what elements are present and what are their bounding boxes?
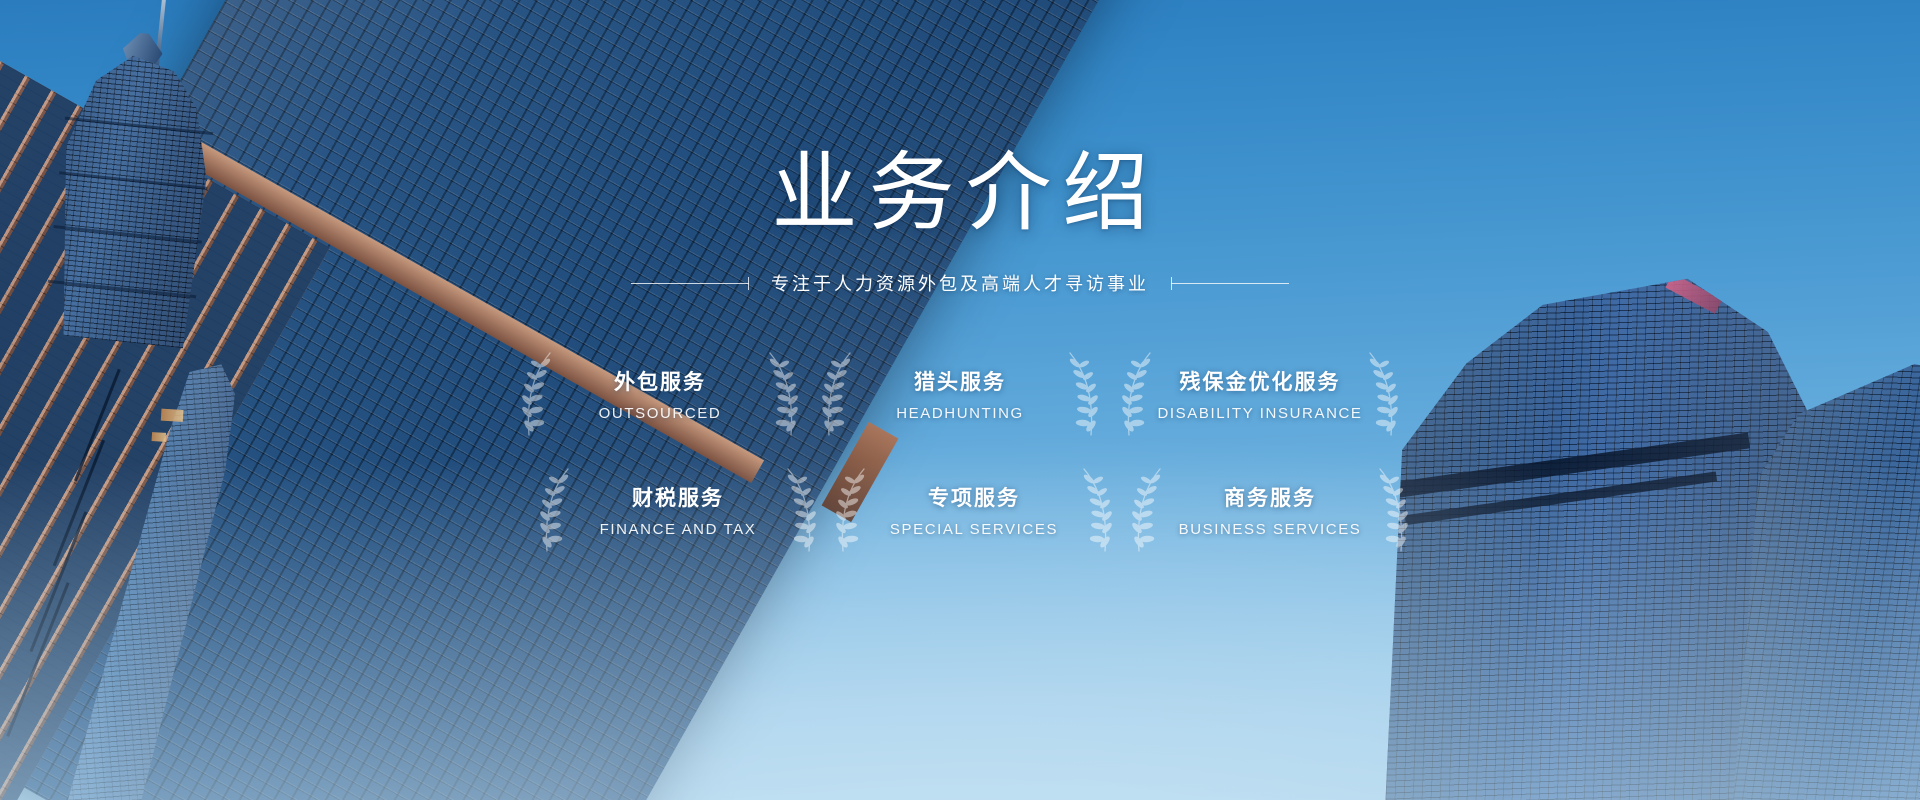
decorative-rule-left <box>631 283 749 284</box>
service-item-business-services[interactable]: 商务服务 BUSINESS SERVICES <box>1134 468 1406 552</box>
service-item-special-services[interactable]: 专项服务 SPECIAL SERVICES <box>838 468 1110 552</box>
service-item-headhunting[interactable]: 猎头服务 HEADHUNTING <box>824 352 1096 436</box>
laurel-branch-left-icon <box>538 466 572 554</box>
service-name-cn: 残保金优化服务 <box>1180 366 1341 396</box>
page-subtitle: 专注于人力资源外包及高端人才寻访事业 <box>771 270 1149 296</box>
service-name-en: FINANCE AND TAX <box>600 521 757 538</box>
service-name-en: BUSINESS SERVICES <box>1179 521 1362 538</box>
laurel-branch-left-icon <box>1120 350 1154 438</box>
service-item-outsourced[interactable]: 外包服务 OUTSOURCED <box>524 352 796 436</box>
subtitle-row: 专注于人力资源外包及高端人才寻访事业 <box>631 270 1289 296</box>
laurel-branch-right-icon <box>1066 350 1100 438</box>
laurel-branch-right-icon <box>1080 466 1114 554</box>
service-name-en: OUTSOURCED <box>599 405 722 422</box>
business-intro-banner: 业务介绍 专注于人力资源外包及高端人才寻访事业 <box>0 0 1920 800</box>
service-item-disability-insurance[interactable]: 残保金优化服务 DISABILITY INSURANCE <box>1124 352 1396 436</box>
page-title: 业务介绍 <box>761 150 1160 236</box>
service-name-en: HEADHUNTING <box>896 405 1024 422</box>
service-list: 外包服务 OUTSOURCED <box>514 352 1406 552</box>
service-row-1: 外包服务 OUTSOURCED <box>514 352 1406 436</box>
service-name-en: DISABILITY INSURANCE <box>1157 405 1362 422</box>
banner-content: 业务介绍 专注于人力资源外包及高端人才寻访事业 <box>0 0 1920 800</box>
service-name-cn: 财税服务 <box>632 482 724 512</box>
service-item-finance-and-tax[interactable]: 财税服务 FINANCE AND TAX <box>542 468 814 552</box>
laurel-branch-left-icon <box>1130 466 1164 554</box>
service-name-cn: 专项服务 <box>928 482 1020 512</box>
decorative-rule-right <box>1171 283 1289 284</box>
service-name-cn: 猎头服务 <box>914 366 1006 396</box>
laurel-branch-right-icon <box>1376 466 1410 554</box>
laurel-branch-right-icon <box>1366 350 1400 438</box>
laurel-branch-right-icon <box>766 350 800 438</box>
service-row-2: 财税服务 FINANCE AND TAX <box>542 468 1406 552</box>
laurel-branch-left-icon <box>834 466 868 554</box>
service-name-cn: 外包服务 <box>614 366 706 396</box>
service-name-cn: 商务服务 <box>1224 482 1316 512</box>
laurel-branch-left-icon <box>820 350 854 438</box>
laurel-branch-right-icon <box>784 466 818 554</box>
laurel-branch-left-icon <box>520 350 554 438</box>
service-name-en: SPECIAL SERVICES <box>890 521 1058 538</box>
